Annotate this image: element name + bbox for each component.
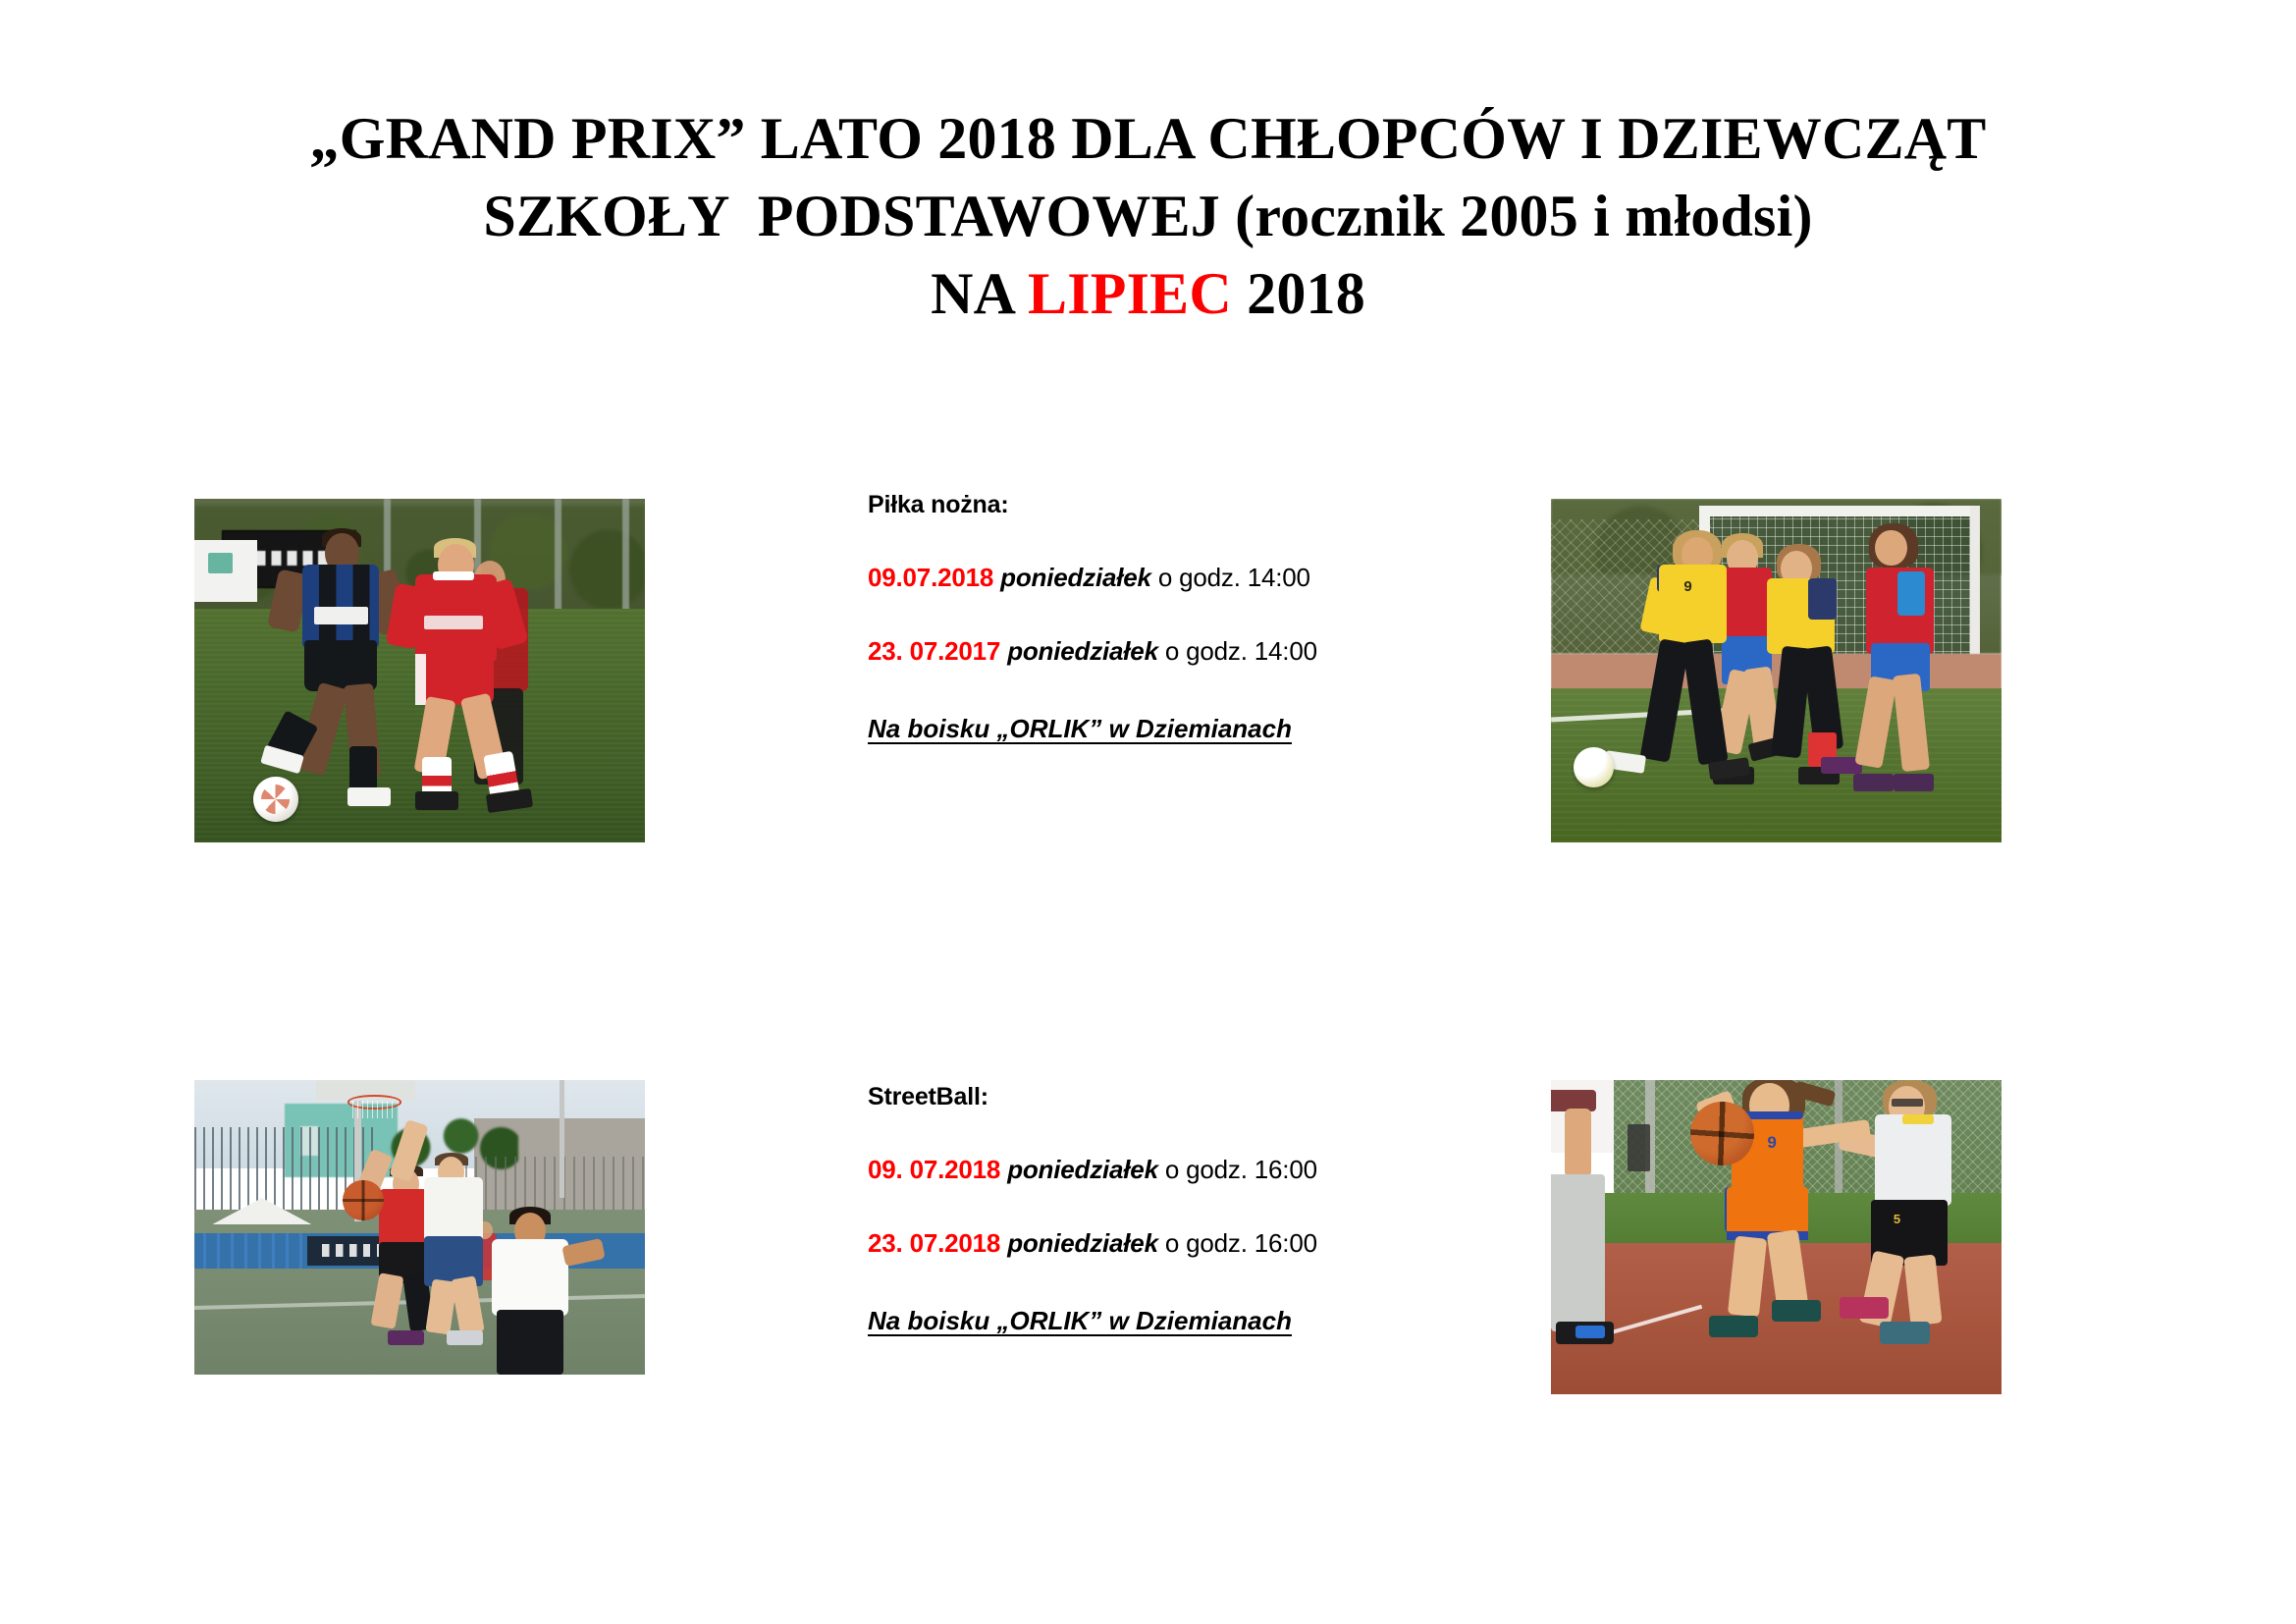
shorts-number-5: 5: [1894, 1212, 1900, 1226]
football-event-row: 09.07.2018 poniedziałek o godz. 14:00: [868, 563, 1496, 593]
football-event-date: 23. 07.2017: [868, 636, 1000, 666]
basketball-icon: [343, 1180, 383, 1220]
streetball-event-day: poniedziałek: [1007, 1228, 1158, 1258]
streetball-event-date: 23. 07.2018: [868, 1228, 1000, 1258]
football-event-date: 09.07.2018: [868, 563, 993, 592]
football-event-time: o godz. 14:00: [1165, 636, 1317, 666]
title-line-2: SZKOŁY PODSTAWOWEJ (rocznik 2005 i młods…: [0, 178, 2296, 255]
title-line-3-suffix: 2018: [1232, 261, 1365, 326]
poster-title: „GRAND PRIX” LATO 2018 DLA CHŁOPCÓW I DZ…: [0, 100, 2296, 334]
streetball-heading: StreetBall:: [868, 1083, 1496, 1111]
streetball-event-row: 23. 07.2018 poniedziałek o godz. 16:00: [868, 1228, 1496, 1259]
photo-girls-football: 9: [1551, 499, 2002, 842]
bib-number-9: 9: [1683, 578, 1691, 595]
streetball-event-time: o godz. 16:00: [1165, 1228, 1317, 1258]
streetball-event-date: 09. 07.2018: [868, 1155, 1000, 1184]
football-event-day: poniedziałek: [1007, 636, 1158, 666]
football-venue: Na boisku „ORLIK” w Dziemianach: [868, 714, 1496, 744]
photo-boys-football: [194, 499, 645, 842]
poster-page: „GRAND PRIX” LATO 2018 DLA CHŁOPCÓW I DZ…: [0, 0, 2296, 1624]
streetball-venue: Na boisku „ORLIK” w Dziemianach: [868, 1306, 1496, 1336]
jersey-number-9: 9: [1767, 1133, 1776, 1153]
basketball-icon: [1690, 1102, 1753, 1164]
football-event-row: 23. 07.2017 poniedziałek o godz. 14:00: [868, 636, 1496, 667]
title-line-3: NA LIPIEC 2018: [0, 255, 2296, 333]
title-month-highlight: LIPIEC: [1028, 261, 1232, 326]
streetball-text-block: StreetBall: 09. 07.2018 poniedziałek o g…: [868, 1083, 1496, 1336]
photo-streetball: [194, 1080, 645, 1375]
glasses-icon: [1892, 1099, 1923, 1107]
title-line-3-prefix: NA: [931, 261, 1028, 326]
football-ball-icon: [253, 777, 298, 822]
football-event-time: o godz. 14:00: [1158, 563, 1310, 592]
football-ball-icon: [1574, 747, 1614, 787]
streetball-event-row: 09. 07.2018 poniedziałek o godz. 16:00: [868, 1155, 1496, 1185]
football-event-day: poniedziałek: [1000, 563, 1151, 592]
streetball-event-time: o godz. 16:00: [1165, 1155, 1317, 1184]
title-line-1: „GRAND PRIX” LATO 2018 DLA CHŁOPCÓW I DZ…: [0, 100, 2296, 178]
football-heading: Piłka nożna:: [868, 491, 1496, 519]
photo-girls-basketball: 5 9: [1551, 1080, 2002, 1394]
streetball-event-day: poniedziałek: [1007, 1155, 1158, 1184]
football-text-block: Piłka nożna: 09.07.2018 poniedziałek o g…: [868, 491, 1496, 744]
